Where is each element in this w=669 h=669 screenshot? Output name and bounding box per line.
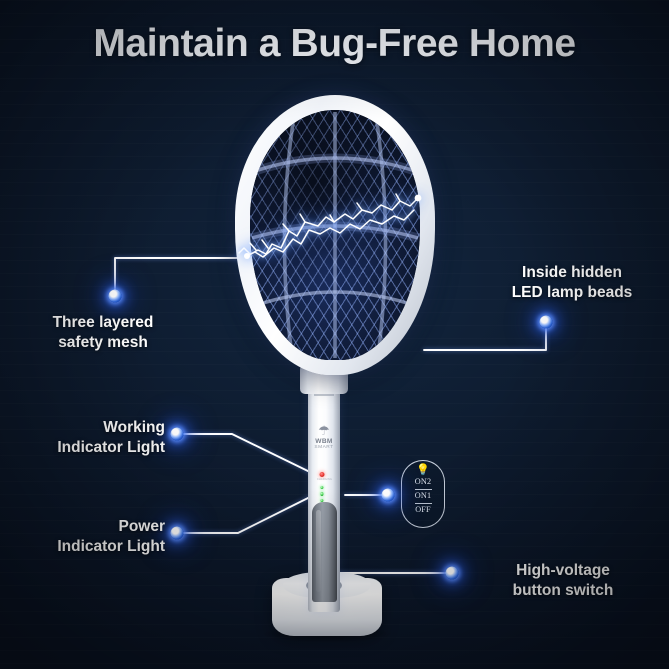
callout-dot-mesh[interactable] <box>109 290 122 303</box>
label-line-1: Working <box>10 418 165 438</box>
battery-led <box>320 492 323 495</box>
brand-logo: ☂ WBM SMART <box>312 424 336 450</box>
switch-mode-on2[interactable]: ON2 <box>415 477 432 487</box>
switch-mode-divider <box>415 503 432 504</box>
light-bulb-icon: 💡 <box>416 465 430 476</box>
callout-dot-power-switch[interactable] <box>382 489 395 502</box>
label-line-1: High-voltage <box>468 561 658 581</box>
label-working-indicator-light: Working Indicator Light <box>10 418 165 458</box>
switch-mode-divider <box>415 489 432 490</box>
label-power-indicator-light: Power Indicator Light <box>10 517 165 557</box>
umbrella-icon: ☂ <box>312 424 336 437</box>
label-inside-hidden-led-lamp-beads: Inside hidden LED lamp beads <box>487 263 657 303</box>
label-line-2: safety mesh <box>28 333 178 353</box>
label-three-layered-safety-mesh: Three layered safety mesh <box>28 313 178 353</box>
label-line-1: Power <box>10 517 165 537</box>
label-line-1: Three layered <box>28 313 178 333</box>
racket-head-mesh-area <box>250 110 420 360</box>
high-voltage-button-switch[interactable] <box>312 502 337 602</box>
callout-dot-led[interactable] <box>540 316 553 329</box>
working-indicator-light-led <box>320 472 325 477</box>
label-line-2: Indicator Light <box>10 537 165 557</box>
working-indicator-micro-label: CHARGING <box>313 478 336 481</box>
mesh-support-ribs <box>250 110 420 360</box>
label-line-2: button switch <box>468 581 658 601</box>
infographic-canvas: ☂ WBM SMART CHARGING <box>0 0 669 669</box>
label-line-1: Inside hidden <box>487 263 657 283</box>
grip-highlight <box>316 510 321 592</box>
label-line-2: LED lamp beads <box>487 283 657 303</box>
callout-dot-high-voltage[interactable] <box>446 567 459 580</box>
label-high-voltage-button-switch: High-voltage button switch <box>468 561 658 601</box>
switch-mode-on1[interactable]: ON1 <box>415 491 432 501</box>
power-switch-mode-detail[interactable]: 💡 ON2 ON1 OFF <box>401 460 445 528</box>
brand-sub-name-label: SMART <box>312 446 336 451</box>
callout-dot-working[interactable] <box>171 428 184 441</box>
handle-seam <box>314 394 334 396</box>
callout-dot-power-indicator[interactable] <box>171 527 184 540</box>
label-line-2: Indicator Light <box>10 438 165 458</box>
battery-led <box>320 486 323 489</box>
page-title: Maintain a Bug-Free Home <box>0 22 669 66</box>
switch-mode-off[interactable]: OFF <box>415 505 431 515</box>
